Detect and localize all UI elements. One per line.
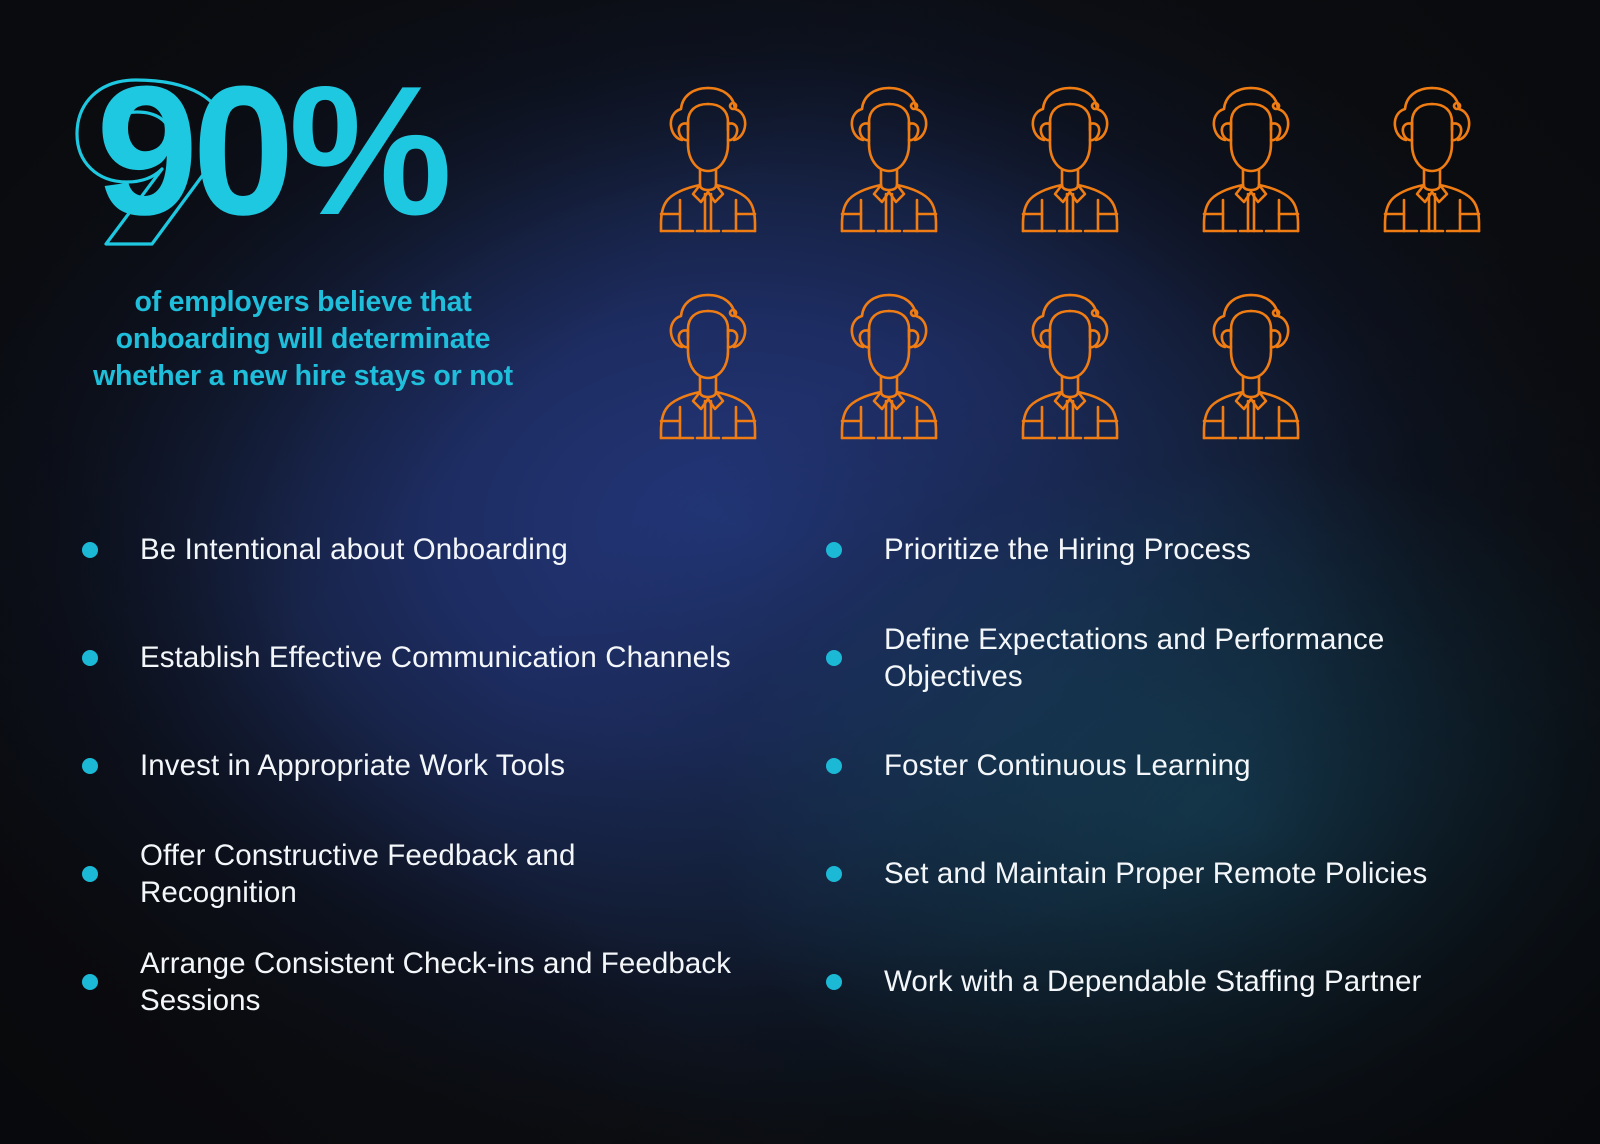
person-icon xyxy=(1379,84,1485,235)
stat-caption: of employers believe that onboarding wil… xyxy=(70,284,536,395)
list-item[interactable]: Offer Constructive Feedback and Recognit… xyxy=(82,820,778,928)
list-item[interactable]: Arrange Consistent Check-ins and Feedbac… xyxy=(82,928,778,1036)
bullet-column-left: Be Intentional about Onboarding Establis… xyxy=(82,496,778,1036)
list-item[interactable]: Be Intentional about Onboarding xyxy=(82,496,778,604)
people-pictogram-chart xyxy=(655,84,1525,498)
stat-value: 90% xyxy=(96,58,446,242)
person-icon xyxy=(1198,84,1304,235)
list-item-label: Invest in Appropriate Work Tools xyxy=(140,747,565,784)
list-item-label: Establish Effective Communication Channe… xyxy=(140,639,731,676)
list-item-label: Work with a Dependable Staffing Partner xyxy=(884,963,1421,1000)
hero-statistic: 90% of employers believe that onboarding… xyxy=(70,72,560,395)
people-row xyxy=(655,84,1525,235)
bullet-dot-icon xyxy=(826,650,842,666)
bullet-dot-icon xyxy=(826,542,842,558)
person-icon xyxy=(836,291,942,442)
list-item-label: Offer Constructive Feedback and Recognit… xyxy=(140,837,740,912)
person-icon xyxy=(1198,291,1304,442)
list-item[interactable]: Establish Effective Communication Channe… xyxy=(82,604,778,712)
bullet-dot-icon xyxy=(82,542,98,558)
bullet-dot-icon xyxy=(826,758,842,774)
stat-figure: 90% xyxy=(70,72,560,250)
list-item-label: Foster Continuous Learning xyxy=(884,747,1251,784)
list-item[interactable]: Work with a Dependable Staffing Partner xyxy=(826,928,1522,1036)
list-item-label: Be Intentional about Onboarding xyxy=(140,531,568,568)
person-icon xyxy=(1017,84,1123,235)
bullet-dot-icon xyxy=(826,866,842,882)
list-item[interactable]: Define Expectations and Performance Obje… xyxy=(826,604,1522,712)
person-icon xyxy=(655,291,761,442)
bullet-column-right: Prioritize the Hiring Process Define Exp… xyxy=(826,496,1522,1036)
list-item[interactable]: Foster Continuous Learning xyxy=(826,712,1522,820)
recommendation-lists: Be Intentional about Onboarding Establis… xyxy=(82,496,1522,1036)
list-item-label: Set and Maintain Proper Remote Policies xyxy=(884,855,1427,892)
list-item-label: Prioritize the Hiring Process xyxy=(884,531,1251,568)
bullet-dot-icon xyxy=(82,650,98,666)
list-item[interactable]: Set and Maintain Proper Remote Policies xyxy=(826,820,1522,928)
bullet-dot-icon xyxy=(82,974,98,990)
bullet-dot-icon xyxy=(82,758,98,774)
bullet-dot-icon xyxy=(826,974,842,990)
bullet-dot-icon xyxy=(82,866,98,882)
list-item[interactable]: Prioritize the Hiring Process xyxy=(826,496,1522,604)
list-item-label: Define Expectations and Performance Obje… xyxy=(884,621,1484,696)
person-icon xyxy=(655,84,761,235)
person-icon xyxy=(836,84,942,235)
infographic-canvas: 90% of employers believe that onboarding… xyxy=(0,0,1600,1144)
list-item-label: Arrange Consistent Check-ins and Feedbac… xyxy=(140,945,740,1020)
person-icon xyxy=(1017,291,1123,442)
list-item[interactable]: Invest in Appropriate Work Tools xyxy=(82,712,778,820)
people-row xyxy=(655,291,1525,442)
